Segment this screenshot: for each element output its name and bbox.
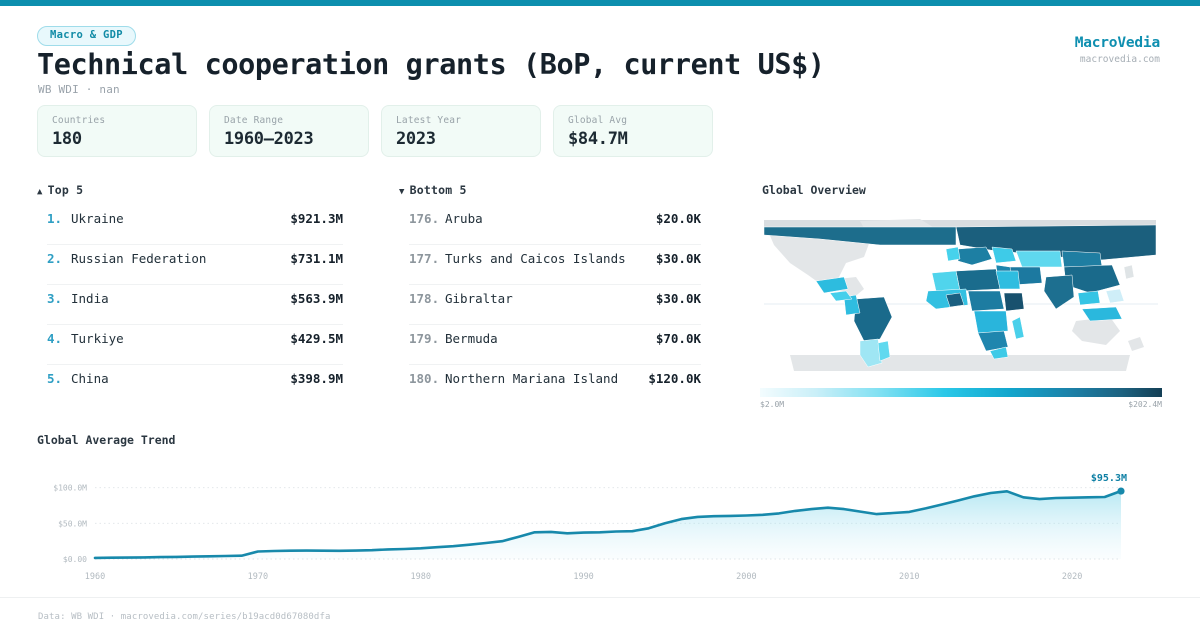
brand-name: MacroVedia [1075, 35, 1160, 51]
rank-number: 1. [47, 211, 71, 226]
country-value: $120.0K [648, 371, 701, 386]
rank-number: 5. [47, 371, 71, 386]
category-badge[interactable]: Macro & GDP [37, 26, 136, 46]
bottom5-heading: ▼Bottom 5 [399, 183, 467, 197]
country-name: Aruba [445, 211, 656, 226]
rank-number: 3. [47, 291, 71, 306]
country-value: $563.9M [290, 291, 343, 306]
rank-number: 177. [409, 251, 445, 266]
stat-card-date-range: Date Range 1960–2023 [209, 105, 369, 157]
svg-text:2010: 2010 [899, 572, 919, 582]
list-item[interactable]: 5. China $398.9M [47, 365, 343, 405]
chart-x-tick-labels: 1960197019801990200020102020 [85, 572, 1083, 582]
country-name: Turks and Caicos Islands [445, 251, 656, 266]
list-item[interactable]: 180. Northern Mariana Island $120.0K [409, 365, 701, 405]
rank-number: 2. [47, 251, 71, 266]
country-name: Northern Mariana Island [445, 371, 648, 386]
top-accent-bar [0, 0, 1200, 6]
stat-label: Countries [52, 115, 196, 126]
stat-value: 180 [52, 129, 196, 149]
svg-text:$100.0M: $100.0M [53, 484, 87, 493]
trend-area-fill [95, 491, 1121, 559]
rank-number: 180. [409, 371, 445, 386]
trend-heading: Global Average Trend [37, 433, 175, 447]
rank-number: 178. [409, 291, 445, 306]
stat-card-global-avg: Global Avg $84.7M [553, 105, 713, 157]
list-item[interactable]: 177. Turks and Caicos Islands $30.0K [409, 245, 701, 285]
trend-chart[interactable]: $0.00$50.0M$100.0M $95.3M 19601970198019… [37, 455, 1163, 585]
country-value: $70.0K [656, 331, 701, 346]
svg-text:2020: 2020 [1062, 572, 1082, 582]
country-name: Russian Federation [71, 251, 290, 266]
svg-text:$0.00: $0.00 [63, 555, 87, 564]
country-value: $30.0K [656, 291, 701, 306]
country-name: Gibraltar [445, 291, 656, 306]
infographic-page: Macro & GDP Technical cooperation grants… [0, 0, 1200, 630]
country-name: China [71, 371, 290, 386]
rank-number: 179. [409, 331, 445, 346]
rank-number: 176. [409, 211, 445, 226]
triangle-down-icon: ▼ [399, 187, 405, 197]
svg-text:1960: 1960 [85, 572, 105, 582]
country-name: Bermuda [445, 331, 656, 346]
svg-text:1970: 1970 [248, 572, 268, 582]
country-name: Turkiye [71, 331, 290, 346]
brand-block: MacroVedia macrovedia.com [1075, 35, 1160, 65]
list-item[interactable]: 4. Turkiye $429.5M [47, 325, 343, 365]
list-item[interactable]: 176. Aruba $20.0K [409, 205, 701, 245]
page-title: Technical cooperation grants (BoP, curre… [37, 48, 825, 81]
country-name: India [71, 291, 290, 306]
list-item[interactable]: 179. Bermuda $70.0K [409, 325, 701, 365]
list-item[interactable]: 3. India $563.9M [47, 285, 343, 325]
top5-heading-label: Top 5 [48, 183, 84, 197]
bottom5-list: 176. Aruba $20.0K 177. Turks and Caicos … [409, 205, 701, 405]
country-name: Ukraine [71, 211, 290, 226]
stat-card-countries: Countries 180 [37, 105, 197, 157]
country-value: $731.1M [290, 251, 343, 266]
triangle-up-icon: ▲ [37, 187, 43, 197]
world-map-svg [760, 205, 1162, 380]
top5-list: 1. Ukraine $921.3M 2. Russian Federation… [47, 205, 343, 405]
stat-label: Date Range [224, 115, 368, 126]
stat-value: $84.7M [568, 129, 712, 149]
stat-card-latest-year: Latest Year 2023 [381, 105, 541, 157]
chart-y-tick-labels: $0.00$50.0M$100.0M [53, 484, 87, 564]
trend-chart-svg: $0.00$50.0M$100.0M $95.3M 19601970198019… [37, 455, 1163, 585]
page-subtitle: WB WDI · nan [38, 83, 120, 96]
trend-end-point [1117, 487, 1124, 494]
stat-value: 1960–2023 [224, 129, 368, 149]
stat-label: Global Avg [568, 115, 712, 126]
list-item[interactable]: 2. Russian Federation $731.1M [47, 245, 343, 285]
map-heading: Global Overview [762, 183, 866, 197]
rank-number: 4. [47, 331, 71, 346]
footer-source: Data: WB WDI · macrovedia.com/series/b19… [38, 612, 330, 622]
trend-end-label: $95.3M [1091, 473, 1127, 484]
stat-value: 2023 [396, 129, 540, 149]
list-item[interactable]: 178. Gibraltar $30.0K [409, 285, 701, 325]
map-legend-gradient [760, 388, 1162, 397]
top5-heading: ▲Top 5 [37, 183, 83, 197]
country-value: $30.0K [656, 251, 701, 266]
country-value: $398.9M [290, 371, 343, 386]
svg-text:1990: 1990 [573, 572, 593, 582]
country-value: $921.3M [290, 211, 343, 226]
map-legend-max: $202.4M [1128, 400, 1162, 409]
choropleth-map[interactable] [760, 205, 1162, 380]
country-value: $20.0K [656, 211, 701, 226]
map-legend-min: $2.0M [760, 400, 784, 409]
bottom5-heading-label: Bottom 5 [410, 183, 467, 197]
list-item[interactable]: 1. Ukraine $921.3M [47, 205, 343, 245]
footer-divider [0, 597, 1200, 598]
stat-card-row: Countries 180 Date Range 1960–2023 Lates… [37, 105, 713, 157]
stat-label: Latest Year [396, 115, 540, 126]
svg-text:2000: 2000 [736, 572, 756, 582]
brand-url: macrovedia.com [1075, 54, 1160, 65]
svg-text:1980: 1980 [410, 572, 430, 582]
country-value: $429.5M [290, 331, 343, 346]
svg-text:$50.0M: $50.0M [58, 519, 87, 528]
